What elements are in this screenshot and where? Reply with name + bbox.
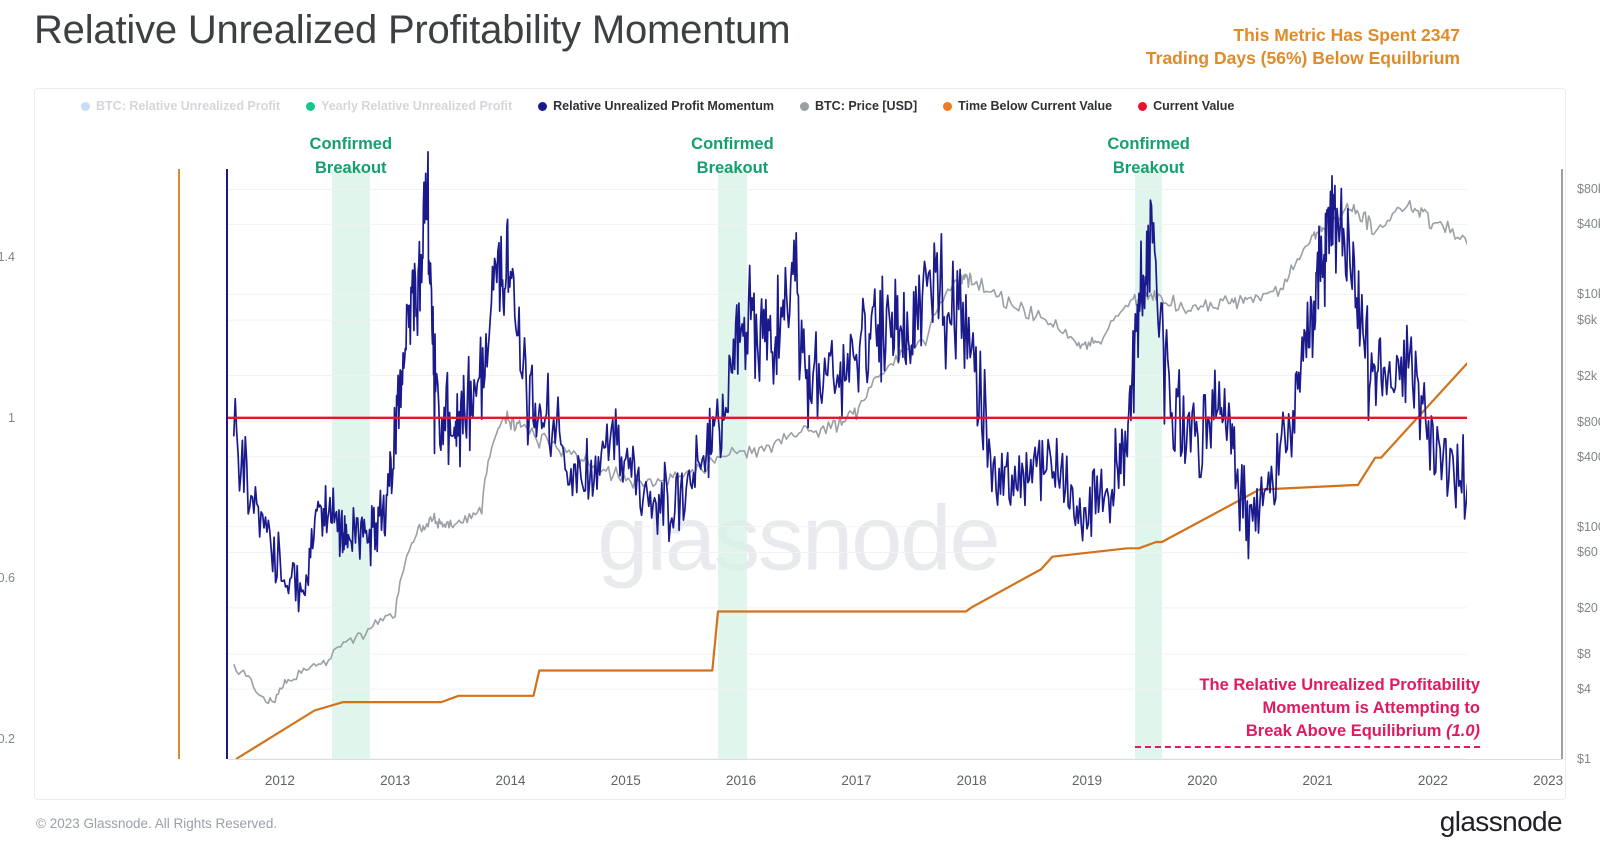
legend-swatch-icon [538,102,547,111]
axis-tick-right: $6k [1577,313,1597,327]
axis-tick-x: 2021 [1303,773,1333,788]
brand-logo: glassnode [1440,806,1562,838]
legend-item-btc-price-usd[interactable]: BTC: Price [USD] [800,99,917,113]
axis-tick-right: $80k [1577,182,1600,196]
axis-tick-x: 2015 [611,773,641,788]
legend-item-current-value[interactable]: Current Value [1138,99,1234,113]
legend-swatch-icon [306,102,315,111]
axis-tick-x: 2014 [495,773,525,788]
axis-tick-x: 2016 [726,773,756,788]
axis-tick-x: 2018 [957,773,987,788]
legend-item-btc-relative-unrealized-profit[interactable]: BTC: Relative Unrealized Profit [81,99,280,113]
annotation-time-below-equilibrium: This Metric Has Spent 2347 Trading Days … [1140,24,1460,70]
copyright-notice: © 2023 Glassnode. All Rights Reserved. [36,816,277,831]
axis-right-price [1561,169,1563,759]
legend-item-label: Yearly Relative Unrealized Profit [321,99,512,113]
annotation-break-above-equilibrium: The Relative Unrealized Profitability Mo… [1135,674,1480,748]
plot-area: glassnode Confirmed Breakout Confirmed B… [133,129,1463,719]
axis-tick-right: $400 [1577,450,1600,464]
axis-tick-x: 2012 [265,773,295,788]
axis-bottom-time [228,759,1562,760]
axis-tick-right: $60 [1577,545,1598,559]
axis-tick-right: $100 [1577,520,1600,534]
legend-item-label: BTC: Price [USD] [815,99,917,113]
legend-item-label: Relative Unrealized Profit Momentum [553,99,774,113]
axis-tick-x: 2019 [1072,773,1102,788]
axis-tick-right: $20 [1577,601,1598,615]
legend-item-yearly-relative-unrealized-profit[interactable]: Yearly Relative Unrealized Profit [306,99,512,113]
axis-tick-right: $800 [1577,415,1600,429]
axis-tick-x: 2022 [1418,773,1448,788]
legend-swatch-icon [81,102,90,111]
axis-tick-right: $1 [1577,752,1591,766]
annotation-bottom-line3-text: Break Above Equilibrium [1246,722,1442,740]
axis-tick-x: 2023 [1533,773,1563,788]
chart-legend: BTC: Relative Unrealized Profit Yearly R… [35,89,1565,123]
axis-tick-left-inner: 0.6 [0,571,15,585]
axis-tick-right: $10k [1577,287,1600,301]
legend-swatch-icon [1138,102,1147,111]
axis-tick-right: $4 [1577,682,1591,696]
annotation-bottom-line3: Break Above Equilibrium (1.0) [1135,720,1480,743]
axis-tick-x: 2017 [841,773,871,788]
axis-left-outer-time-below [178,169,180,759]
axis-tick-left-inner: 1 [8,411,15,425]
legend-swatch-icon [800,102,809,111]
chart-card: BTC: Relative Unrealized Profit Yearly R… [34,88,1566,800]
legend-item-label: Time Below Current Value [958,99,1112,113]
axis-tick-left-inner: 0.2 [0,732,15,746]
axis-tick-right: $2k [1577,369,1597,383]
legend-item-relative-unrealized-profit-momentum[interactable]: Relative Unrealized Profit Momentum [538,99,774,113]
axis-tick-right: $40k [1577,217,1600,231]
annotation-top-line2: Trading Days (56%) Below Equilbrium [1140,47,1460,70]
legend-item-time-below-current-value[interactable]: Time Below Current Value [943,99,1112,113]
annotation-bottom-paren: (1.0) [1441,722,1480,740]
annotation-bottom-line2: Momentum is Attempting to [1135,697,1480,720]
axis-left-inner-momentum [226,169,228,759]
series-momentum-line [234,152,1467,612]
annotation-bottom-line1: The Relative Unrealized Profitability [1135,674,1480,697]
legend-swatch-icon [943,102,952,111]
axis-tick-left-inner: 1.4 [0,250,15,264]
legend-item-label: BTC: Relative Unrealized Profit [96,99,280,113]
page-title: Relative Unrealized Profitability Moment… [34,8,790,53]
axis-tick-right: $8 [1577,647,1591,661]
annotation-top-line1: This Metric Has Spent 2347 [1140,24,1460,47]
legend-item-label: Current Value [1153,99,1234,113]
axis-tick-x: 2020 [1187,773,1217,788]
axis-tick-x: 2013 [380,773,410,788]
